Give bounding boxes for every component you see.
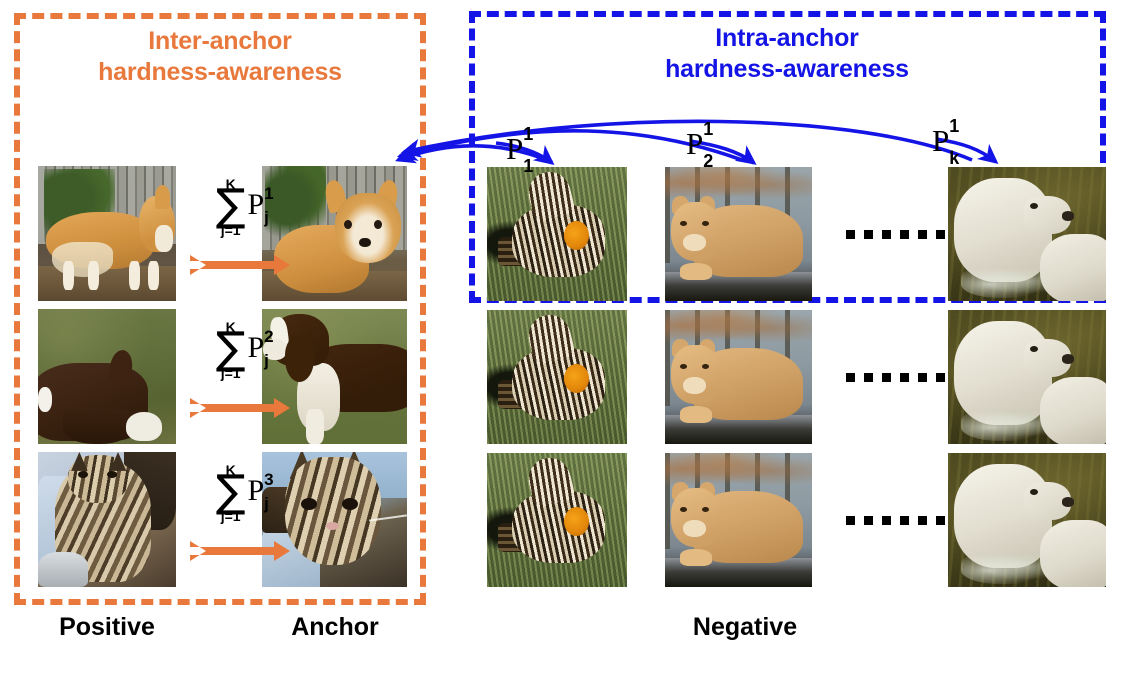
intra-weight-term-2: P — [686, 126, 703, 161]
p-superscript-row2: 2 — [264, 327, 273, 347]
intra-weight-label-2: P 1 2 — [686, 128, 703, 159]
ellipsis-row3 — [846, 514, 945, 526]
sigma-glyph-row1: ∑ — [216, 188, 246, 225]
caption-positive: Positive — [24, 613, 190, 642]
summation-expression-row2: K ∑ j=1 P 2 j — [216, 320, 264, 380]
negative-image-r1c1 — [487, 167, 627, 301]
relation-row2: K ∑ j=1 P 2 j — [182, 319, 298, 380]
inter-anchor-title: Inter-anchor hardness-awareness — [22, 26, 418, 87]
positive-image-row1 — [38, 166, 176, 301]
intra-weight-superscript-k: 1 — [949, 117, 959, 135]
intra-weight-term-k: P — [932, 123, 949, 158]
caption-anchor: Anchor — [250, 613, 420, 642]
positive-image-row2 — [38, 309, 176, 444]
negative-image-r1c3 — [948, 167, 1106, 301]
figure-canvas: Inter-anchor hardness-awareness Intra-an… — [0, 0, 1122, 700]
p-term-row2: P — [247, 331, 264, 364]
relation-row1: K ∑ j=1 P 1 j — [182, 176, 298, 237]
intra-weight-subscript-k: k — [949, 149, 959, 167]
negative-image-r1c2 — [665, 167, 812, 301]
inter-anchor-double-arrow-row1 — [190, 254, 290, 276]
caption-negative: Negative — [660, 613, 830, 642]
p-term-row1: P — [247, 188, 264, 221]
p-subscript-row1: j — [264, 208, 269, 228]
negative-image-r3c3 — [948, 453, 1106, 587]
intra-weight-label-k: P 1 k — [932, 125, 949, 156]
p-superscript-row1: 1 — [264, 184, 273, 204]
ellipsis-row1 — [846, 228, 945, 240]
intra-weight-label-1: P 1 1 — [506, 133, 523, 164]
summation-expression-row3: K ∑ j=1 P 3 j — [216, 463, 264, 523]
sum-lower-limit-row2: j=1 — [221, 366, 241, 380]
summation-expression-row1: K ∑ j=1 P 1 j — [216, 177, 264, 237]
inter-anchor-double-arrow-row3 — [190, 540, 290, 562]
positive-image-row3 — [38, 452, 176, 587]
negative-image-r2c3 — [948, 310, 1106, 444]
negative-image-r2c2 — [665, 310, 812, 444]
sum-lower-limit-row1: j=1 — [221, 223, 241, 237]
intra-weight-subscript-2: 2 — [703, 152, 713, 170]
intra-weight-subscript-1: 1 — [523, 157, 533, 175]
sigma-glyph-row2: ∑ — [216, 331, 246, 368]
negative-image-r3c2 — [665, 453, 812, 587]
p-superscript-row3: 3 — [264, 470, 273, 490]
sum-lower-limit-row3: j=1 — [221, 509, 241, 523]
sigma-glyph-row3: ∑ — [216, 474, 246, 511]
intra-weight-term-1: P — [506, 131, 523, 166]
intra-anchor-title: Intra-anchor hardness-awareness — [477, 23, 1097, 84]
intra-weight-superscript-1: 1 — [523, 125, 533, 143]
p-subscript-row3: j — [264, 494, 269, 514]
inter-anchor-double-arrow-row2 — [190, 397, 290, 419]
intra-weight-superscript-2: 1 — [703, 120, 713, 138]
p-term-row3: P — [247, 474, 264, 507]
negative-image-r2c1 — [487, 310, 627, 444]
ellipsis-row2 — [846, 371, 945, 383]
relation-row3: K ∑ j=1 P 3 j — [182, 462, 298, 523]
p-subscript-row2: j — [264, 351, 269, 371]
negative-image-r3c1 — [487, 453, 627, 587]
